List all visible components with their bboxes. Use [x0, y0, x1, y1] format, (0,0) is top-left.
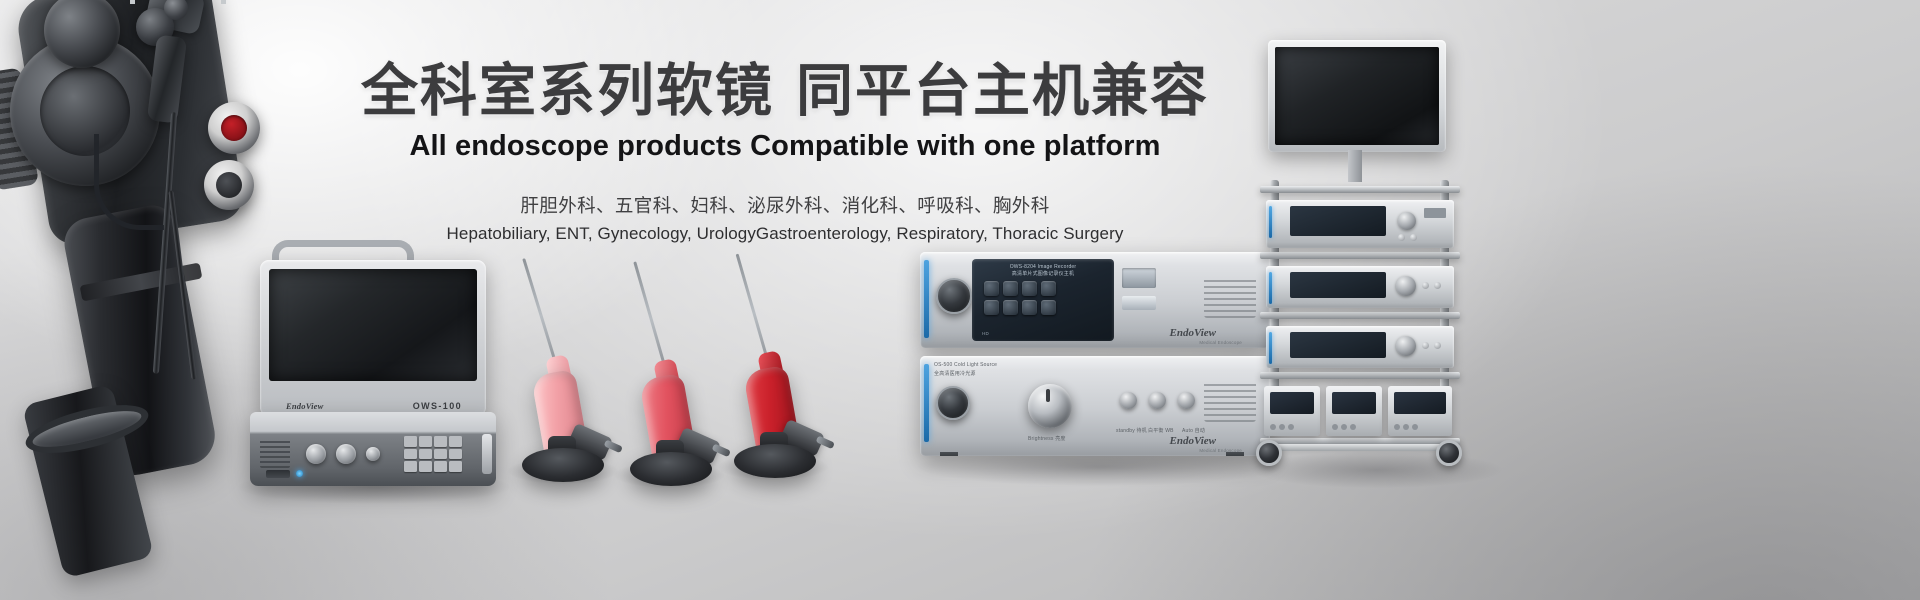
- unit-vent-grille: [1204, 380, 1256, 422]
- specialties-chinese: 肝胆外科、五官科、妇科、泌尿外科、消化科、呼吸科、胸外科: [0, 192, 1570, 218]
- unit-round-button: [1149, 392, 1166, 409]
- accessory-buttons: [1394, 424, 1418, 430]
- cold-light-source-unit: Brightness 亮度 standby 待机 白平衡 WB Auto 自动 …: [920, 356, 1270, 456]
- unit-key: [984, 281, 999, 296]
- banner-text-block: 全科室系列软镜同平台主机兼容 All endoscope products Co…: [0, 0, 1570, 244]
- unit-brand-sublabel: Medical Endoscope: [1199, 340, 1242, 345]
- device-panel: [1290, 272, 1386, 298]
- indicator-dot: [1422, 342, 1429, 349]
- unit-model-text-en: OS-500 Cold Light Source: [934, 362, 997, 368]
- scope-display-base: [630, 452, 712, 486]
- banner-headline: 全科室系列软镜同平台主机兼容: [0, 62, 1570, 122]
- cart-shelf: [1260, 372, 1460, 379]
- accessory-button: [1332, 424, 1338, 430]
- accessory-buttons: [1270, 424, 1294, 430]
- cart-device-3: [1266, 326, 1454, 368]
- keypad-key: [404, 449, 417, 460]
- accessory-button: [1350, 424, 1356, 430]
- cart-shelf: [1260, 312, 1460, 319]
- processor-stack: OWS-8204 Image Recorder 高清单片式图像记录仪主机 HD …: [920, 252, 1276, 464]
- unit-slot-module: [1122, 296, 1156, 310]
- indicator-dot: [1434, 282, 1441, 289]
- cart-base-arm: [1260, 444, 1456, 451]
- workstation-vent-grille: [260, 438, 290, 468]
- accessory-button: [1288, 424, 1294, 430]
- accessory-screen: [1394, 392, 1446, 414]
- indicator-dot: [1434, 342, 1441, 349]
- unit-knob-label: Brightness 亮度: [1028, 435, 1066, 442]
- accessory-button: [1279, 424, 1285, 430]
- keypad-key: [404, 461, 417, 472]
- unit-usb-module: [1122, 268, 1156, 288]
- flexible-scope-red: [716, 248, 846, 488]
- accessory-screen: [1270, 392, 1314, 414]
- device-knob: [1396, 276, 1416, 296]
- unit-light-port: [936, 386, 970, 420]
- unit-control-panel: OWS-8204 Image Recorder 高清单片式图像记录仪主机 HD: [972, 259, 1114, 341]
- keypad-key: [449, 461, 462, 472]
- accessory-button: [1403, 424, 1409, 430]
- cart-shelf: [1260, 252, 1460, 259]
- keypad-key: [434, 436, 447, 447]
- accessory-buttons: [1332, 424, 1356, 430]
- keypad-key: [449, 436, 462, 447]
- keypad-key: [434, 449, 447, 460]
- workstation-knob-1: [306, 444, 326, 464]
- workstation-keypad: [404, 436, 462, 472]
- cart-wheel-right: [1436, 440, 1462, 466]
- unit-key: [1003, 281, 1018, 296]
- cart-accessory-box-b: [1326, 386, 1382, 436]
- workstation-brand-label: EndoView: [286, 401, 324, 411]
- headline-part-1: 全科室系列软镜: [361, 59, 774, 123]
- accessory-button: [1341, 424, 1347, 430]
- unit-key: [1022, 281, 1037, 296]
- device-blue-bar: [1269, 332, 1272, 364]
- workstation-model-label: OWS-100: [413, 401, 462, 411]
- accessory-button: [1394, 424, 1400, 430]
- device-blue-bar: [1269, 272, 1272, 304]
- unit-blue-indicator-bar: [924, 260, 929, 338]
- unit-brightness-knob: [1028, 384, 1072, 428]
- unit-key: [1041, 281, 1056, 296]
- keypad-key: [419, 449, 432, 460]
- workstation-base-unit: [250, 412, 496, 486]
- scope-display-base: [734, 444, 816, 478]
- unit-key: [984, 300, 999, 315]
- unit-foot-right: [1226, 452, 1244, 456]
- unit-brand-label: EndoView: [1170, 327, 1216, 339]
- unit-camera-port: [936, 278, 972, 314]
- cart-accessory-box-c: [1388, 386, 1452, 436]
- keypad-key: [449, 449, 462, 460]
- unit-key: [1003, 300, 1018, 315]
- unit-round-button: [1178, 392, 1195, 409]
- keypad-key: [434, 461, 447, 472]
- keypad-key: [419, 461, 432, 472]
- device-indicator-dots: [1422, 282, 1441, 289]
- device-panel: [1290, 332, 1386, 358]
- workstation-power-led: [296, 470, 303, 477]
- unit-model-text-cn: 全高清医用冷光源: [934, 370, 976, 377]
- unit-key: [1022, 300, 1037, 315]
- workstation-port: [266, 470, 290, 478]
- unit-panel-title-cn: 高清单片式图像记录仪主机: [972, 271, 1114, 279]
- unit-vent-grille: [1204, 276, 1256, 318]
- indicator-dot: [1422, 282, 1429, 289]
- workstation-knob-2: [336, 444, 356, 464]
- endoscopy-product-banner: 全科室系列软镜同平台主机兼容 All endoscope products Co…: [0, 0, 1920, 600]
- unit-panel-side-label: HD: [982, 331, 989, 336]
- image-recorder-unit: OWS-8204 Image Recorder 高清单片式图像记录仪主机 HD …: [920, 252, 1270, 348]
- banner-subheadline: All endoscope products Compatible with o…: [0, 131, 1570, 163]
- cart-device-2: [1266, 266, 1454, 308]
- unit-blue-indicator-bar: [924, 364, 929, 442]
- keypad-key: [404, 436, 417, 447]
- unit-button-label-2: 白平衡 WB: [1148, 427, 1174, 434]
- workstation-side-tab: [482, 434, 492, 474]
- accessory-button: [1412, 424, 1418, 430]
- unit-button-label-3: Auto 自动: [1182, 427, 1205, 434]
- accessory-screen: [1332, 392, 1376, 414]
- unit-key: [1041, 300, 1056, 315]
- unit-button-label-1: standby 待机: [1116, 427, 1147, 434]
- keypad-key: [419, 436, 432, 447]
- device-indicator-dots: [1422, 342, 1441, 349]
- unit-round-button: [1120, 392, 1137, 409]
- specialties-english: Hepatobiliary, ENT, Gynecology, UrologyG…: [0, 224, 1570, 244]
- workstation-knob-3: [366, 447, 380, 461]
- workstation-display-bezel: EndoView OWS-100: [260, 260, 486, 416]
- unit-button-row: [1120, 392, 1195, 409]
- cart-wheel-left: [1256, 440, 1282, 466]
- scope-display-base: [522, 448, 604, 482]
- unit-brand-label: EndoView: [1170, 435, 1216, 447]
- unit-button-grid: [984, 281, 1056, 315]
- unit-foot-left: [940, 452, 958, 456]
- device-knob: [1396, 336, 1416, 356]
- accessory-button: [1270, 424, 1276, 430]
- headline-part-2: 同平台主机兼容: [796, 59, 1209, 123]
- workstation-screen: [269, 269, 477, 381]
- cart-accessory-box-a: [1264, 386, 1320, 436]
- ows-workstation: EndoView OWS-100: [236, 240, 504, 490]
